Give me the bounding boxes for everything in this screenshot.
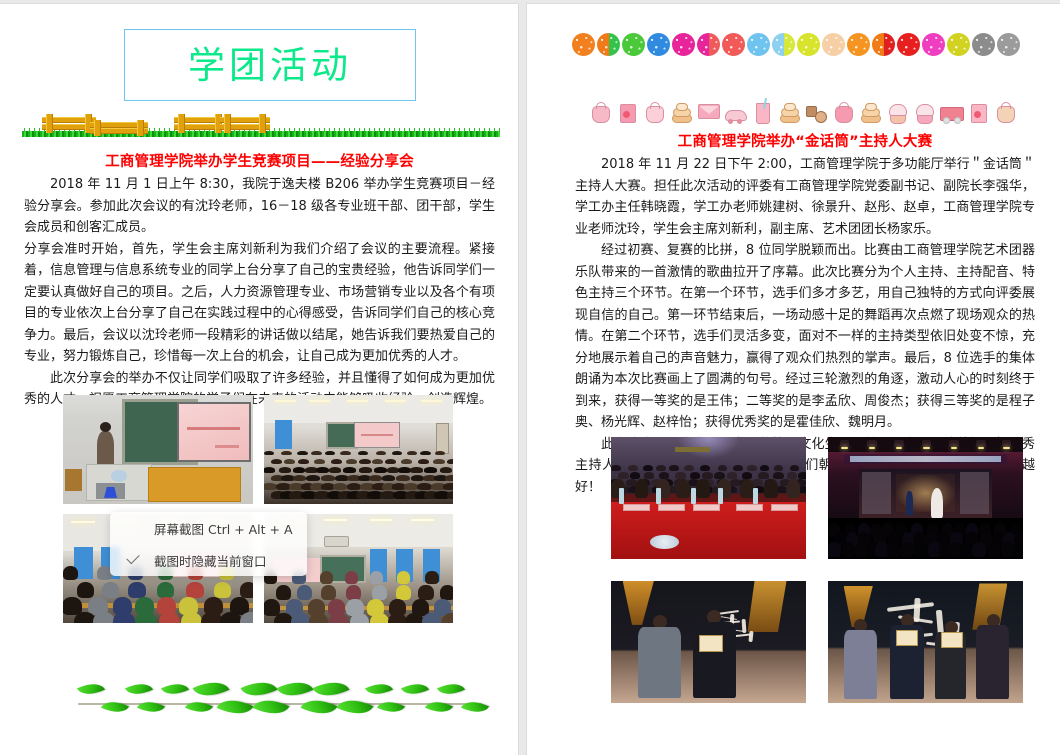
candy-pouch-icon	[831, 94, 855, 126]
candy-circle-icon	[897, 33, 920, 56]
candy-circle-icon	[697, 33, 720, 56]
menu-item-hide-window[interactable]: 截图时隐藏当前窗口	[110, 544, 307, 576]
right-photo-row-2	[611, 581, 1023, 703]
photo-stage-performance	[828, 437, 1023, 559]
leaf-icon	[253, 692, 290, 722]
strawberry-bag-icon	[642, 94, 666, 126]
fence-segment	[90, 120, 148, 136]
left-article-paragraph-1: 2018 年 11 月 1 日上午 8:30，我院于逸夫楼 B206 举办学生竞…	[24, 174, 495, 239]
document-workspace: 学团活动 工商管理学院举办学生竞赛项目——经验分享会	[0, 0, 1060, 755]
fence-segment	[174, 114, 226, 133]
drink-cup-icon	[750, 94, 774, 126]
person-figure	[693, 610, 736, 698]
photo-award-two-people	[611, 581, 806, 703]
page-title-box: 学团活动	[124, 29, 416, 101]
leaf-icon	[301, 692, 338, 722]
leaf-icon	[185, 696, 213, 719]
candy-bag-icon	[588, 94, 612, 126]
left-article: 工商管理学院举办学生竞赛项目——经验分享会 2018 年 11 月 1 日上午 …	[24, 150, 495, 411]
kawaii-sticker-row-decoration	[588, 88, 1020, 126]
candy-circle-icon	[597, 33, 620, 56]
leaf-icon	[77, 678, 105, 701]
fence-segment	[220, 114, 270, 133]
car-icon	[723, 94, 747, 126]
leaf-icon	[377, 696, 405, 719]
person-figure	[844, 619, 877, 700]
photo-award-four-people	[828, 581, 1023, 703]
page-title: 学团活动	[188, 47, 352, 84]
candy-circle-icon	[972, 33, 995, 56]
left-photo-row-1	[63, 395, 453, 504]
check-icon	[126, 551, 139, 564]
right-photo-grid	[611, 437, 1023, 725]
candy-circle-icon	[672, 33, 695, 56]
left-article-heading: 工商管理学院举办学生竞赛项目——经验分享会	[24, 150, 495, 171]
cupcake-icon	[885, 94, 909, 126]
leaf-icon	[461, 696, 489, 719]
muffin-icon	[912, 94, 936, 126]
candy-circle-icon	[822, 33, 845, 56]
menu-item-screen-capture-label: 屏幕截图 Ctrl + Alt + A	[154, 519, 293, 538]
person-figure	[890, 614, 923, 699]
leaf-icon	[125, 678, 153, 701]
milk-box-icon	[966, 94, 990, 126]
candy-circle-icon	[847, 33, 870, 56]
chocolate-icon	[804, 94, 828, 126]
left-article-paragraph-2: 分享会准时开始，首先，学生会主席刘新利为我们介绍了会议的主要流程。紧接着，信息管…	[24, 239, 495, 368]
bread-icon	[858, 94, 882, 126]
leaf-icon	[277, 674, 314, 704]
right-photo-row-1	[611, 437, 1023, 559]
leaf-icon	[241, 674, 278, 704]
photo-judges-panel	[611, 437, 806, 559]
candy-circle-icon	[747, 33, 770, 56]
leaf-icon	[101, 696, 129, 719]
leaf-icon	[217, 692, 254, 722]
candy-circle-icon	[572, 33, 595, 56]
milk-carton-icon	[615, 94, 639, 126]
person-figure	[638, 615, 681, 698]
candy-circle-icon	[772, 33, 795, 56]
candy-circle-icon	[997, 33, 1020, 56]
leaf-icon	[401, 678, 429, 701]
pancake-stack-icon	[777, 94, 801, 126]
leaf-icon	[137, 696, 165, 719]
leaf-icon	[313, 674, 350, 704]
leaf-icon	[425, 696, 453, 719]
document-page-left: 学团活动 工商管理学院举办学生竞赛项目——经验分享会	[0, 4, 518, 755]
candy-circles-decoration	[572, 33, 1027, 60]
leaf-icon	[437, 678, 465, 701]
menu-item-hide-window-label: 截图时隐藏当前窗口	[154, 551, 267, 570]
right-article-paragraph-1: 2018 年 11 月 22 日下午 2:00，工商管理学院于多功能厅举行＂金话…	[575, 154, 1035, 240]
screenshot-context-menu[interactable]: 屏幕截图 Ctrl + Alt + A 截图时隐藏当前窗口	[110, 512, 307, 576]
fence-segment	[42, 114, 96, 133]
cake-roll-icon	[669, 94, 693, 126]
handbag-icon	[993, 94, 1017, 126]
candy-circle-icon	[622, 33, 645, 56]
candy-circle-icon	[947, 33, 970, 56]
photo-audience-wide	[264, 395, 454, 504]
leaf-vine-decoration	[60, 676, 500, 730]
menu-item-screen-capture[interactable]: 屏幕截图 Ctrl + Alt + A	[110, 512, 307, 544]
candy-circle-icon	[872, 33, 895, 56]
photo-lecture-speaker	[63, 395, 253, 504]
candy-circle-icon	[647, 33, 670, 56]
fence-decoration	[22, 114, 500, 138]
leaf-icon	[337, 692, 374, 722]
truck-icon	[939, 94, 963, 126]
person-figure	[976, 614, 1009, 699]
leaf-icon	[365, 678, 393, 701]
leaf-icon	[161, 678, 189, 701]
candy-circle-icon	[722, 33, 745, 56]
candy-circle-icon	[922, 33, 945, 56]
leaf-icon	[193, 674, 230, 704]
candy-circle-icon	[797, 33, 820, 56]
envelope-icon	[696, 94, 720, 126]
right-article-heading: 工商管理学院举办“金话筒”主持人大赛	[575, 130, 1035, 151]
right-article-paragraph-2: 经过初赛、复赛的比拼，8 位同学脱颖而出。比赛由工商管理学院艺术团器乐队带来的一…	[575, 240, 1035, 434]
